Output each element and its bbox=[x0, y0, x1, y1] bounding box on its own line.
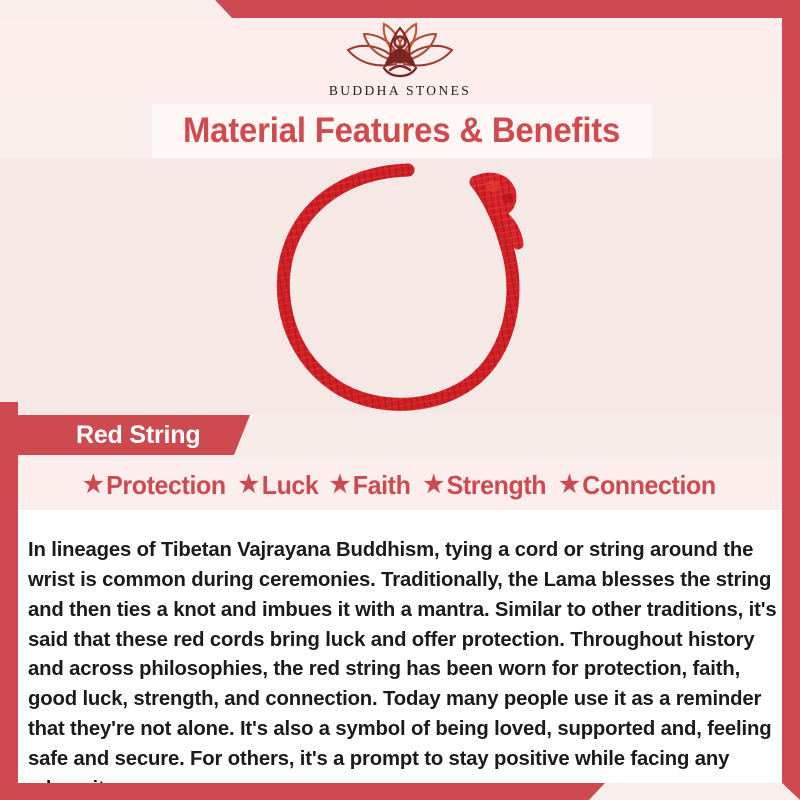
section-ribbon-label: Red String bbox=[18, 421, 200, 450]
benefit-keyword-label: Connection bbox=[583, 470, 716, 501]
brand-name: BUDDHA STONES bbox=[329, 83, 471, 99]
brand-header: BUDDHA STONES bbox=[0, 18, 800, 104]
frame-top-accent-bar bbox=[0, 0, 800, 18]
benefit-keyword-protection: ★ Protection bbox=[83, 470, 226, 501]
benefit-keyword-strength: ★ Strength bbox=[417, 470, 545, 501]
star-icon: ★ bbox=[330, 473, 350, 497]
frame-left-accent-bar bbox=[0, 402, 18, 800]
benefit-keyword-label: Protection bbox=[107, 470, 227, 501]
page-title: Material Features & Benefits bbox=[183, 111, 620, 151]
benefit-keyword-connection: ★ Connection bbox=[554, 470, 716, 501]
benefit-keyword-label: Faith bbox=[353, 470, 411, 501]
star-icon: ★ bbox=[83, 473, 103, 497]
benefit-keyword-label: Strength bbox=[446, 470, 546, 501]
red-string-bracelet-image bbox=[250, 158, 560, 414]
description-panel: In lineages of Tibetan Vajrayana Buddhis… bbox=[18, 510, 782, 783]
frame-right-accent-bar bbox=[782, 0, 800, 800]
benefit-keyword-label: Luck bbox=[262, 470, 319, 501]
product-feature-poster: BUDDHA STONES Material Features & Benefi… bbox=[0, 0, 800, 800]
description-paragraph: In lineages of Tibetan Vajrayana Buddhis… bbox=[28, 536, 778, 800]
star-icon: ★ bbox=[239, 473, 259, 497]
benefit-keyword-row: ★ Protection ★ Luck ★ Faith ★ Strength ★… bbox=[0, 460, 800, 510]
hero-image-area bbox=[0, 158, 800, 414]
benefit-keyword-faith: ★ Faith bbox=[324, 470, 411, 501]
section-ribbon: Red String bbox=[18, 415, 250, 455]
star-icon: ★ bbox=[560, 473, 580, 497]
page-title-band: Material Features & Benefits bbox=[152, 104, 652, 158]
brand-logo: BUDDHA STONES bbox=[329, 18, 471, 99]
benefit-keyword-luck: ★ Luck bbox=[233, 470, 319, 501]
star-icon: ★ bbox=[423, 473, 443, 497]
lotus-meditation-icon bbox=[334, 20, 466, 82]
